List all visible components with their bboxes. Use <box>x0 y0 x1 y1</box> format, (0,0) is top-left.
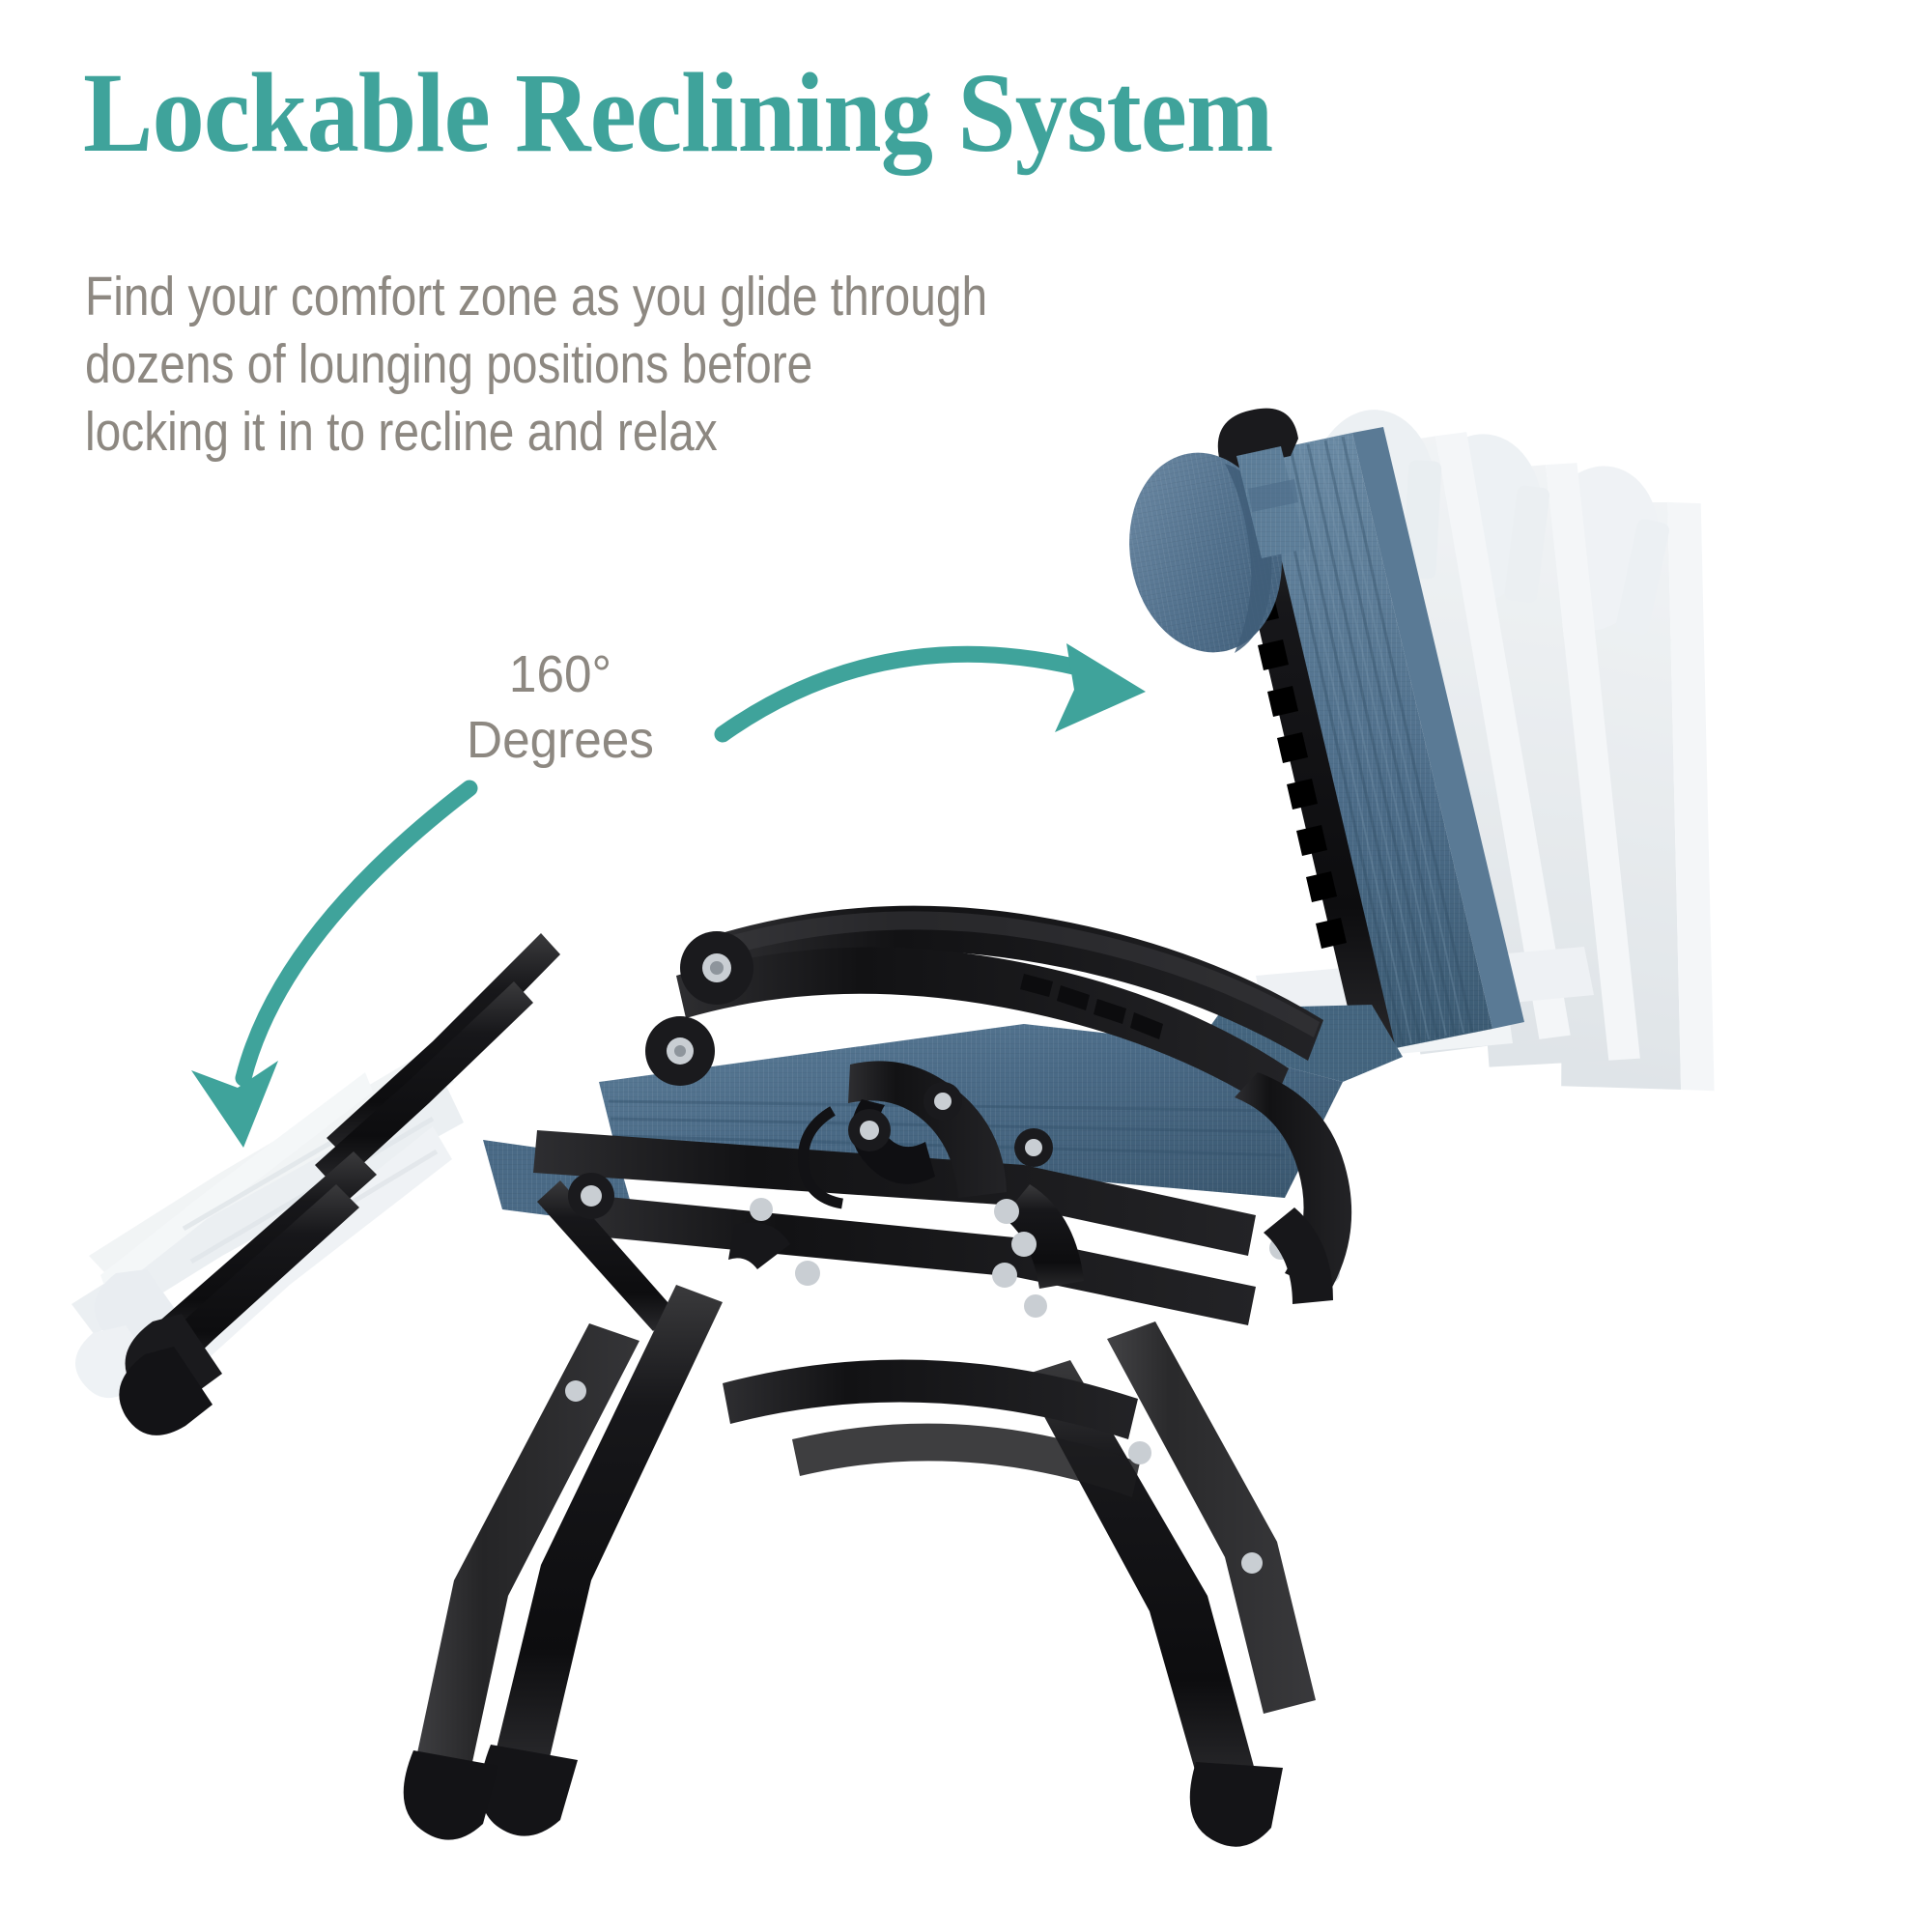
degrees-value: 160° <box>413 641 707 707</box>
degrees-unit: Degrees <box>413 707 707 773</box>
page-title: Lockable Reclining System <box>83 56 1272 170</box>
subtitle-text: Find your comfort zone as you glide thro… <box>85 263 987 466</box>
marketing-graphic: Lockable Reclining System Find your comf… <box>0 0 1932 1932</box>
degrees-annotation: 160° Degrees <box>413 641 707 773</box>
lower-recline-arrow <box>191 788 469 1148</box>
upper-recline-arrow <box>723 643 1146 734</box>
